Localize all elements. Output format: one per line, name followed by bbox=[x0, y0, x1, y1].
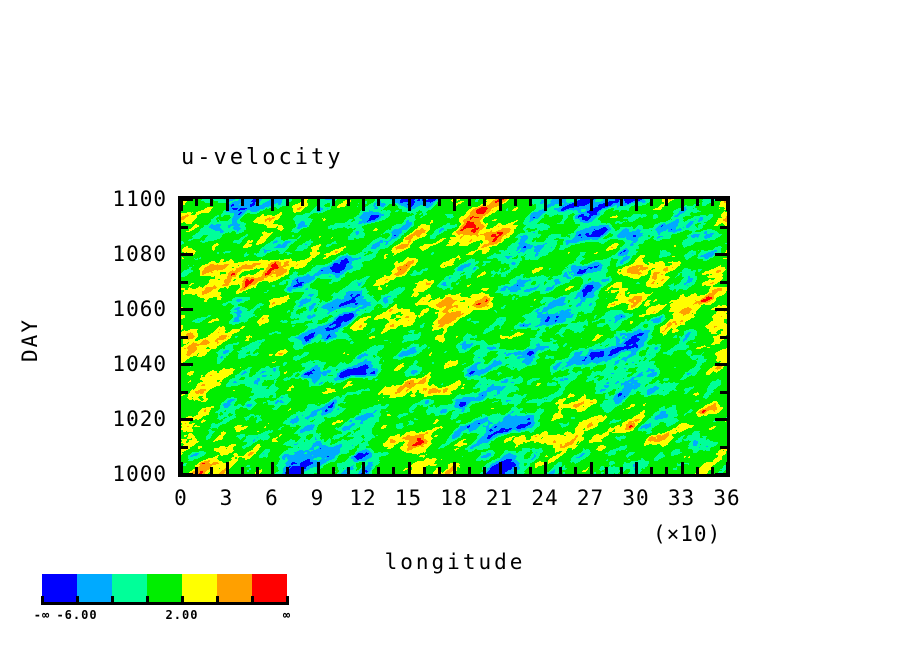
x-axis-tick bbox=[317, 462, 320, 474]
x-axis-tick bbox=[635, 199, 638, 211]
x-axis-tick bbox=[711, 199, 714, 206]
figure-canvas: u-velocity 03691215182124273033361000102… bbox=[0, 0, 904, 654]
colorbar-tick-label: -6.00 bbox=[56, 608, 97, 622]
x-axis-tick-label: 3 bbox=[220, 486, 234, 510]
y-axis-tick bbox=[181, 281, 188, 284]
colorbar-tick-label: ∞ bbox=[283, 608, 291, 622]
x-axis-tick bbox=[468, 467, 471, 474]
x-axis-tick bbox=[286, 467, 289, 474]
y-axis-tick bbox=[720, 391, 727, 394]
x-axis-tick bbox=[696, 467, 699, 474]
x-axis-tick-label: 9 bbox=[311, 486, 325, 510]
x-axis-tick bbox=[347, 199, 350, 206]
x-axis-tick bbox=[453, 462, 456, 474]
y-axis-tick-label: 1100 bbox=[112, 187, 167, 211]
y-axis-tick bbox=[181, 198, 193, 201]
y-axis-tick-label: 1060 bbox=[112, 297, 167, 321]
y-axis-tick bbox=[181, 226, 188, 229]
x-axis-tick bbox=[590, 462, 593, 474]
y-axis-tick-label: 1000 bbox=[112, 462, 167, 486]
x-axis-tick bbox=[650, 199, 653, 206]
x-axis-tick bbox=[529, 467, 532, 474]
x-axis-tick bbox=[241, 199, 244, 206]
x-axis-tick-label: 12 bbox=[349, 486, 376, 510]
x-axis-tick bbox=[377, 467, 380, 474]
colorbar-tick-label: -∞ bbox=[34, 608, 50, 622]
x-axis-tick bbox=[195, 199, 198, 206]
x-axis-tick-label: 27 bbox=[577, 486, 604, 510]
y-axis-tick-label: 1040 bbox=[112, 352, 167, 376]
x-axis-tick bbox=[408, 199, 411, 211]
x-axis-tick bbox=[574, 467, 577, 474]
x-axis-tick-label: 30 bbox=[622, 486, 649, 510]
y-axis-tick bbox=[181, 446, 188, 449]
colorbar-tick bbox=[251, 596, 254, 605]
heatmap-plot-area bbox=[181, 199, 727, 474]
colorbar-tick bbox=[216, 596, 219, 605]
x-axis-tick bbox=[711, 467, 714, 474]
x-axis-tick bbox=[256, 467, 259, 474]
x-axis-tick bbox=[544, 462, 547, 474]
x-axis-tick bbox=[423, 467, 426, 474]
x-axis-tick bbox=[605, 467, 608, 474]
colorbar-band-red bbox=[252, 574, 287, 602]
x-axis-tick bbox=[423, 199, 426, 206]
x-axis-tick bbox=[665, 467, 668, 474]
colorbar-band-yellow bbox=[182, 574, 217, 602]
axis-frame-bottom bbox=[181, 474, 730, 477]
colorbar-band-green bbox=[147, 574, 182, 602]
x-axis-tick bbox=[226, 199, 229, 211]
heatmap-field bbox=[181, 199, 727, 474]
x-axis-tick bbox=[301, 467, 304, 474]
x-axis-tick bbox=[241, 467, 244, 474]
x-axis-tick bbox=[499, 199, 502, 211]
x-axis-tick bbox=[574, 199, 577, 206]
page-title: u-velocity bbox=[181, 145, 343, 170]
x-axis-tick-label: 21 bbox=[486, 486, 513, 510]
x-axis-tick bbox=[665, 199, 668, 206]
y-axis-title: DAY bbox=[18, 318, 42, 362]
colorbar-band-orange bbox=[217, 574, 252, 602]
colorbar-band-azure bbox=[77, 574, 112, 602]
x-axis-tick bbox=[317, 199, 320, 211]
x-axis-tick bbox=[590, 199, 593, 211]
x-axis-tick bbox=[332, 467, 335, 474]
colorbar-band-spring-green bbox=[112, 574, 147, 602]
x-axis-tick bbox=[392, 199, 395, 206]
y-axis-tick bbox=[181, 308, 193, 311]
colorbar-tick-label: 2.00 bbox=[166, 608, 199, 622]
x-axis-tick bbox=[483, 199, 486, 206]
x-axis-tick bbox=[559, 199, 562, 206]
x-axis-tick bbox=[681, 462, 684, 474]
colorbar-tick bbox=[146, 596, 149, 605]
x-axis-multiplier: (×10) bbox=[653, 522, 721, 546]
y-axis-tick bbox=[715, 253, 727, 256]
y-axis-tick bbox=[715, 418, 727, 421]
x-axis-tick bbox=[635, 462, 638, 474]
x-axis-tick bbox=[256, 199, 259, 206]
y-axis-tick bbox=[715, 308, 727, 311]
y-axis-tick bbox=[181, 391, 188, 394]
x-axis-tick bbox=[392, 467, 395, 474]
x-axis-tick bbox=[438, 199, 441, 206]
colorbar-tick bbox=[111, 596, 114, 605]
x-axis-tick bbox=[514, 199, 517, 206]
x-axis-tick bbox=[559, 467, 562, 474]
x-axis-tick bbox=[195, 467, 198, 474]
y-axis-tick bbox=[181, 418, 193, 421]
x-axis-tick bbox=[226, 462, 229, 474]
y-axis-tick bbox=[181, 473, 193, 476]
x-axis-tick bbox=[605, 199, 608, 206]
x-axis-tick bbox=[514, 467, 517, 474]
x-axis-tick bbox=[620, 467, 623, 474]
y-axis-tick-label: 1080 bbox=[112, 242, 167, 266]
x-axis-tick bbox=[271, 199, 274, 211]
y-axis-tick bbox=[715, 363, 727, 366]
x-axis-tick bbox=[681, 199, 684, 211]
colorbar-tick bbox=[41, 596, 44, 605]
x-axis-tick-label: 36 bbox=[713, 486, 740, 510]
x-axis-tick bbox=[696, 199, 699, 206]
y-axis-tick bbox=[181, 363, 193, 366]
x-axis-tick bbox=[301, 199, 304, 206]
colorbar-tick bbox=[76, 596, 79, 605]
x-axis-tick bbox=[499, 462, 502, 474]
y-axis-tick bbox=[720, 281, 727, 284]
x-axis-tick bbox=[408, 462, 411, 474]
x-axis-tick bbox=[210, 199, 213, 206]
x-axis-tick bbox=[650, 467, 653, 474]
x-axis-tick bbox=[544, 199, 547, 211]
x-axis-tick bbox=[468, 199, 471, 206]
x-axis-tick bbox=[271, 462, 274, 474]
x-axis-title: longitude bbox=[385, 550, 526, 574]
x-axis-tick bbox=[438, 467, 441, 474]
x-axis-tick-label: 6 bbox=[265, 486, 279, 510]
axis-frame-right bbox=[727, 196, 730, 477]
x-axis-tick-label: 24 bbox=[531, 486, 558, 510]
x-axis-tick-label: 0 bbox=[174, 486, 188, 510]
x-axis-tick bbox=[347, 467, 350, 474]
x-axis-tick bbox=[286, 199, 289, 206]
x-axis-tick bbox=[362, 199, 365, 211]
x-axis-tick-label: 15 bbox=[395, 486, 422, 510]
colorbar-band-blue bbox=[42, 574, 77, 602]
colorbar-tick bbox=[286, 596, 289, 605]
x-axis-tick bbox=[453, 199, 456, 211]
y-axis-tick bbox=[181, 253, 193, 256]
y-axis-tick bbox=[720, 446, 727, 449]
y-axis-tick bbox=[181, 336, 188, 339]
y-axis-tick bbox=[715, 198, 727, 201]
y-axis-tick bbox=[720, 336, 727, 339]
x-axis-tick bbox=[483, 467, 486, 474]
x-axis-tick bbox=[377, 199, 380, 206]
x-axis-tick bbox=[362, 462, 365, 474]
x-axis-tick bbox=[332, 199, 335, 206]
colorbar-tick bbox=[181, 596, 184, 605]
y-axis-tick-label: 1020 bbox=[112, 407, 167, 431]
x-axis-tick bbox=[620, 199, 623, 206]
x-axis-tick-label: 33 bbox=[668, 486, 695, 510]
x-axis-tick-label: 18 bbox=[440, 486, 467, 510]
x-axis-tick bbox=[210, 467, 213, 474]
x-axis-tick bbox=[529, 199, 532, 206]
y-axis-tick bbox=[720, 226, 727, 229]
y-axis-tick bbox=[715, 473, 727, 476]
